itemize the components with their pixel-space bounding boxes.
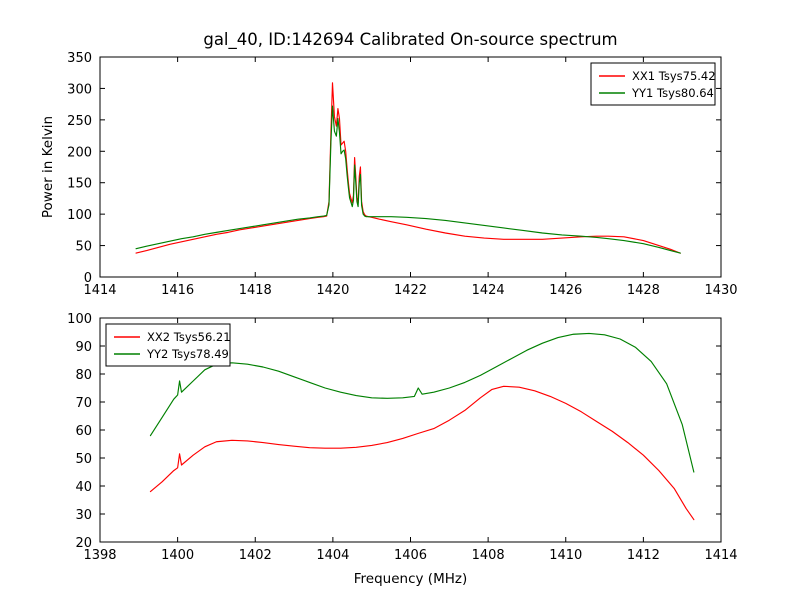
ytick-label: 90 <box>75 340 92 355</box>
legend-label: XX2 Tsys56.21 <box>147 330 231 344</box>
x-axis-title: Frequency (MHz) <box>354 571 467 587</box>
series-line-yy1 <box>136 106 680 253</box>
panel-bottom: 1398140014021404140614081410141214142030… <box>67 312 737 587</box>
xtick-label: 1414 <box>704 548 737 563</box>
legend-label: YY2 Tsys78.49 <box>146 347 229 361</box>
ytick-label: 150 <box>67 177 92 192</box>
ytick-label: 50 <box>75 452 92 467</box>
legend-label: YY1 Tsys80.64 <box>631 86 714 100</box>
ytick-label: 60 <box>75 424 92 439</box>
xtick-label: 1412 <box>627 548 660 563</box>
series-line-xx1 <box>136 83 680 253</box>
xtick-label: 1400 <box>161 548 194 563</box>
xtick-label: 1418 <box>239 283 272 298</box>
legend-label: XX1 Tsys75.42 <box>632 69 716 83</box>
spectrum-figure: 1414141614181420142214241426142814300501… <box>0 0 800 600</box>
ytick-label: 350 <box>67 51 92 66</box>
xtick-label: 1408 <box>472 548 505 563</box>
ytick-label: 250 <box>67 114 92 129</box>
ytick-label: 40 <box>75 480 92 495</box>
xtick-label: 1428 <box>627 283 660 298</box>
ytick-label: 30 <box>75 508 92 523</box>
xtick-label: 1424 <box>472 283 505 298</box>
xtick-label: 1410 <box>549 548 582 563</box>
series-line-xx2 <box>150 386 693 519</box>
plot-canvas: 1414141614181420142214241426142814300501… <box>0 0 800 600</box>
ytick-label: 0 <box>84 271 92 286</box>
y-axis-title: Power in Kelvin <box>40 116 56 218</box>
xtick-label: 1402 <box>239 548 272 563</box>
ytick-label: 100 <box>67 312 92 327</box>
series-line-yy2 <box>150 333 693 472</box>
ytick-label: 20 <box>75 536 92 551</box>
xtick-label: 1422 <box>394 283 427 298</box>
xtick-label: 1406 <box>394 548 427 563</box>
xtick-label: 1416 <box>161 283 194 298</box>
ytick-label: 200 <box>67 145 92 160</box>
figure-title: gal_40, ID:142694 Calibrated On-source s… <box>203 30 617 50</box>
xtick-label: 1420 <box>316 283 349 298</box>
ytick-label: 100 <box>67 208 92 223</box>
ytick-label: 50 <box>75 240 92 255</box>
panel-top: 1414141614181420142214241426142814300501… <box>40 30 738 298</box>
xtick-label: 1404 <box>316 548 349 563</box>
xtick-label: 1426 <box>549 283 582 298</box>
ytick-label: 300 <box>67 82 92 97</box>
xtick-label: 1430 <box>704 283 737 298</box>
ytick-label: 80 <box>75 368 92 383</box>
ytick-label: 70 <box>75 396 92 411</box>
